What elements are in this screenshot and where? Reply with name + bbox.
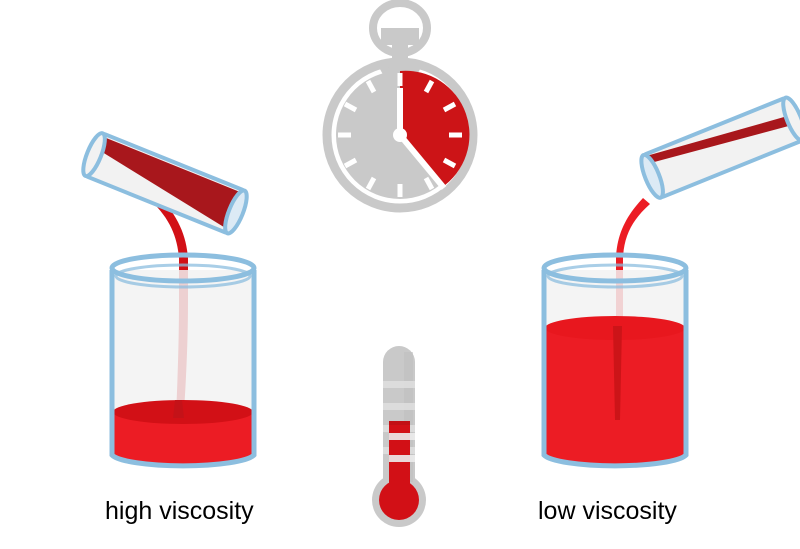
- viscosity-diagram: high viscosity low viscosity: [0, 0, 800, 549]
- thermometer: [0, 0, 800, 549]
- caption-high-viscosity: high viscosity: [105, 497, 254, 526]
- caption-low-viscosity: low viscosity: [538, 497, 677, 526]
- thermometer-mercury-top: [389, 421, 410, 425]
- thermometer-bulb-mercury: [379, 480, 419, 520]
